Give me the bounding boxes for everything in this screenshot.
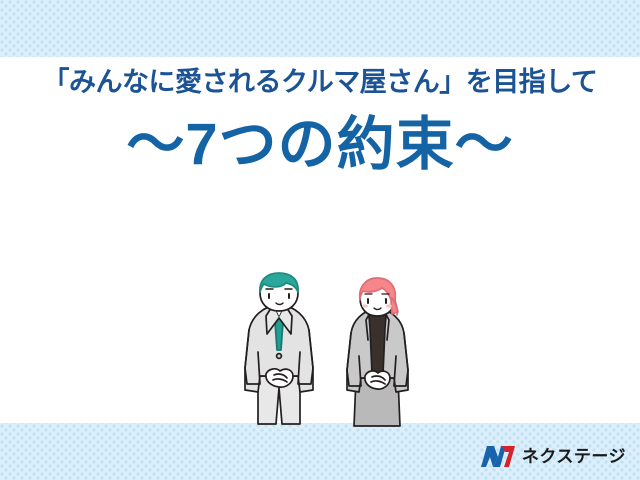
headline-block: 「みんなに愛されるクルマ屋さん」を目指して 〜7つの約束〜 [0,68,640,178]
nextage-logo: ネクステージ [481,444,626,469]
female-staff-figure [347,278,408,426]
slide-canvas: 「みんなに愛されるクルマ屋さん」を目指して 〜7つの約束〜 [0,0,640,480]
headline-line-2: 〜7つの約束〜 [0,112,640,179]
staff-illustration [236,272,426,427]
nextage-n-mark-icon [481,444,515,469]
staff-illustration-svg [236,272,426,427]
headline-line-1: 「みんなに愛されるクルマ屋さん」を目指して [0,68,640,98]
nextage-logo-text: ネクステージ [522,448,626,465]
male-staff-figure [245,273,313,424]
